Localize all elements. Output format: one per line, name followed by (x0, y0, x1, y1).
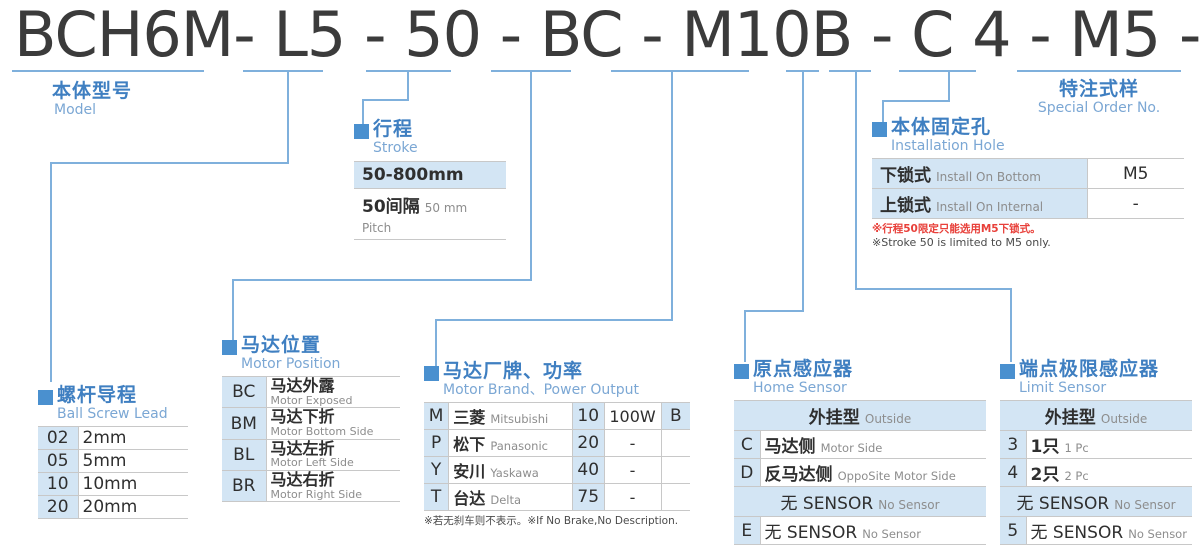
home-sensor-code: D (734, 459, 760, 487)
motor-power-value: - (630, 488, 636, 507)
limit-sensor-group1-cn: 外挂型 (1045, 408, 1096, 428)
lead-code: 05 (38, 450, 78, 473)
table-group-header: 无 SENSOR No Sensor (1000, 487, 1192, 517)
table-row[interactable]: 5 无 SENSOR No Sensor (1000, 517, 1192, 545)
motor-brand-note-en: ※If No Brake,No Description. (527, 515, 678, 527)
install-bottom-cn: 下锁式 (880, 166, 931, 186)
section-stroke: 行程 Stroke 50-800mm 50间隔 50 mm Pitch (354, 120, 506, 240)
motor-brand-bullet-icon (424, 366, 439, 381)
motor-position-bullet-icon (222, 340, 237, 355)
limit-sensor-title-en: Limit Sensor (1019, 381, 1159, 395)
motor-brand-cn: 台达 (453, 489, 485, 508)
installation-hole-title-cn: 本体固定孔 (891, 118, 1005, 137)
motor-brand-en: Mitsubishi (490, 412, 548, 426)
section-special-order: 特注式样 Special Order No. (1017, 80, 1181, 115)
table-group-header: 外挂型 Outside (1000, 401, 1192, 431)
limit-sensor-title-cn: 端点极限感应器 (1019, 360, 1159, 379)
limit-sensor-cn: 1只 (1031, 437, 1060, 457)
motor-brand-note-cn: ※若无刹车则不表示。 (424, 515, 527, 527)
motor-position-en: Motor Left Side (271, 457, 397, 469)
ball-screw-lead-title-en: Ball Screw Lead (57, 407, 168, 421)
lead-value: 10mm (83, 474, 138, 494)
home-sensor-bullet-icon (734, 364, 749, 379)
motor-brake-empty (661, 457, 690, 484)
limit-sensor-code: 3 (1000, 431, 1026, 459)
motor-brake-code: B (661, 403, 690, 430)
section-motor-position: 马达位置 Motor Position BC 马达外露 Motor Expose… (222, 336, 400, 502)
motor-brand-title-en: Motor Brand、Power Output (443, 383, 639, 397)
home-sensor-en: No Sensor (862, 527, 921, 541)
installation-hole-table: 下锁式 Install On Bottom M5 上锁式 Install On … (872, 158, 1184, 219)
lead-code: 20 (38, 496, 78, 519)
ball-screw-lead-bullet-icon (38, 390, 53, 405)
motor-power-value: - (630, 434, 636, 453)
limit-sensor-table: 外挂型 Outside 3 1只 1 Pc 4 2只 2 Pc 无 SENSOR… (1000, 400, 1192, 545)
limit-sensor-en: 1 Pc (1064, 441, 1088, 455)
motor-power-code: 10 (572, 403, 604, 430)
motor-position-code: BR (222, 471, 266, 502)
table-row[interactable]: T 台达 Delta 75 - (424, 484, 690, 511)
part-code-header: BCH6M- L5 - 50 - BC - M10B - C 4 - M5 - … (0, 2, 1200, 66)
install-internal-en: Install On Internal (936, 200, 1043, 214)
motor-position-cn: 马达下折 (271, 409, 397, 426)
section-model: 本体型号 Model (52, 82, 132, 117)
motor-position-code: BM (222, 408, 266, 439)
table-row[interactable]: M 三菱 Mitsubishi 10 100W B (424, 403, 690, 430)
motor-position-en: Motor Exposed (271, 395, 397, 407)
limit-sensor-en: No Sensor (1128, 527, 1187, 541)
table-group-header: 无 SENSOR No Sensor (734, 487, 986, 517)
motor-brand-en: Panasonic (490, 439, 548, 453)
section-ball-screw-lead: 螺杆导程 Ball Screw Lead 02 2mm 05 5mm 10 10… (38, 386, 188, 519)
motor-position-cn: 马达外露 (271, 378, 397, 395)
lead-code: 10 (38, 473, 78, 496)
install-bottom-value: M5 (1123, 164, 1148, 184)
motor-brand-en: Delta (490, 493, 521, 507)
motor-brand-cn: 安川 (453, 462, 485, 481)
installation-hole-note-en: ※Stroke 50 is limited to M5 only. (872, 236, 1184, 249)
home-sensor-title-cn: 原点感应器 (753, 360, 853, 379)
table-row[interactable]: 10 10mm (38, 473, 188, 496)
home-sensor-cn: 反马达侧 (765, 465, 833, 485)
motor-power-value: 100W (609, 407, 655, 426)
table-group-header: 外挂型 Outside (734, 401, 986, 431)
limit-sensor-group1-en: Outside (1101, 412, 1147, 426)
motor-brand-code: Y (424, 457, 449, 484)
stroke-range-value: 50-800mm (362, 165, 464, 185)
motor-brand-cn: 松下 (453, 435, 485, 454)
table-row[interactable]: BR 马达右折 Motor Right Side (222, 471, 400, 502)
table-row[interactable]: 4 2只 2 Pc (1000, 459, 1192, 487)
motor-position-code: BC (222, 377, 266, 408)
code-underline-install-hole (899, 70, 976, 72)
motor-brand-table: M 三菱 Mitsubishi 10 100W B P 松下 Panasonic… (424, 402, 690, 511)
table-row[interactable]: BC 马达外露 Motor Exposed (222, 377, 400, 408)
table-row[interactable]: BL 马达左折 Motor Left Side (222, 439, 400, 470)
motor-position-code: BL (222, 439, 266, 470)
table-row[interactable]: Y 安川 Yaskawa 40 - (424, 457, 690, 484)
motor-power-code: 40 (572, 457, 604, 484)
table-row[interactable]: 下锁式 Install On Bottom M5 (872, 159, 1184, 189)
home-sensor-cn: 无 SENSOR (765, 523, 858, 543)
motor-brand-code: T (424, 484, 449, 511)
installation-hole-title-en: Installation Hole (891, 139, 1005, 153)
home-sensor-group2-cn: 无 SENSOR (781, 494, 874, 514)
home-sensor-group2-en: No Sensor (878, 498, 939, 512)
install-bottom-en: Install On Bottom (936, 170, 1041, 184)
section-home-sensor: 原点感应器 Home Sensor 外挂型 Outside C 马达侧 Moto… (734, 360, 986, 545)
motor-power-value: - (630, 461, 636, 480)
lead-code: 02 (38, 427, 78, 450)
model-title-en: Model (54, 103, 132, 117)
table-row[interactable]: 3 1只 1 Pc (1000, 431, 1192, 459)
motor-position-en: Motor Bottom Side (271, 426, 397, 438)
motor-brand-code: M (424, 403, 449, 430)
section-limit-sensor: 端点极限感应器 Limit Sensor 外挂型 Outside 3 1只 1 … (1000, 360, 1192, 545)
table-row[interactable]: 50间隔 50 mm Pitch (354, 189, 506, 240)
motor-brand-note: ※若无刹车则不表示。※If No Brake,No Description. (424, 513, 690, 528)
motor-brake-empty (661, 484, 690, 511)
table-row[interactable]: 上锁式 Install On Internal - (872, 189, 1184, 219)
installation-hole-note-cn: ※行程50限定只能选用M5下锁式。 (872, 221, 1184, 236)
motor-position-cn: 马达左折 (271, 441, 397, 458)
section-motor-brand: 马达厂牌、功率 Motor Brand、Power Output M 三菱 Mi… (424, 362, 690, 528)
motor-power-code: 20 (572, 430, 604, 457)
table-row[interactable]: 05 5mm (38, 450, 188, 473)
stroke-pitch-cn: 50间隔 (362, 197, 420, 217)
home-sensor-en: Motor Side (821, 441, 883, 455)
stroke-title-en: Stroke (373, 141, 418, 155)
lead-value: 5mm (83, 451, 127, 471)
table-row[interactable]: BM 马达下折 Motor Bottom Side (222, 408, 400, 439)
limit-sensor-code: 5 (1000, 517, 1026, 545)
home-sensor-table: 外挂型 Outside C 马达侧 Motor Side D 反马达侧 Oppo… (734, 400, 986, 545)
limit-sensor-cn: 无 SENSOR (1031, 523, 1124, 543)
code-underline-motor-brand (611, 70, 749, 72)
limit-sensor-cn: 2只 (1031, 465, 1060, 485)
installation-hole-bullet-icon (872, 122, 887, 137)
motor-brake-empty (661, 430, 690, 457)
lead-value: 20mm (83, 497, 138, 517)
ball-screw-lead-title-cn: 螺杆导程 (57, 386, 168, 405)
limit-sensor-en: 2 Pc (1064, 469, 1088, 483)
table-row[interactable]: 02 2mm (38, 427, 188, 450)
table-row[interactable]: P 松下 Panasonic 20 - (424, 430, 690, 457)
limit-sensor-bullet-icon (1000, 364, 1015, 379)
motor-brand-code: P (424, 430, 449, 457)
motor-position-title-cn: 马达位置 (241, 336, 340, 355)
home-sensor-code: C (734, 431, 760, 459)
motor-brand-en: Yaskawa (490, 466, 538, 480)
home-sensor-group1-en: Outside (865, 412, 911, 426)
motor-position-title-en: Motor Position (241, 357, 340, 371)
motor-position-table: BC 马达外露 Motor Exposed BM 马达下折 Motor Bott… (222, 376, 400, 502)
home-sensor-cn: 马达侧 (765, 437, 816, 457)
table-row[interactable]: D 反马达侧 OppoSite Motor Side (734, 459, 986, 487)
home-sensor-group1-cn: 外挂型 (809, 408, 860, 428)
special-order-title-en: Special Order No. (1017, 101, 1181, 115)
stroke-title-cn: 行程 (373, 120, 418, 139)
limit-sensor-group2-en: No Sensor (1114, 498, 1175, 512)
model-title-cn: 本体型号 (52, 82, 132, 101)
home-sensor-en: OppoSite Motor Side (838, 469, 956, 483)
install-internal-value: - (1133, 194, 1139, 214)
part-code-text: BCH6M- L5 - 50 - BC - M10B - C 4 - M5 - … (14, 0, 1200, 71)
home-sensor-title-en: Home Sensor (753, 381, 853, 395)
table-row[interactable]: C 马达侧 Motor Side (734, 431, 986, 459)
motor-brand-cn: 三菱 (453, 408, 485, 427)
limit-sensor-code: 4 (1000, 459, 1026, 487)
table-row[interactable]: 50-800mm (354, 162, 506, 189)
table-row[interactable]: 20 20mm (38, 496, 188, 519)
special-order-title-cn: 特注式样 (1017, 80, 1181, 99)
motor-position-cn: 马达右折 (271, 472, 397, 489)
motor-power-code: 75 (572, 484, 604, 511)
motor-brand-title-cn: 马达厂牌、功率 (443, 362, 639, 381)
stroke-bullet-icon (354, 124, 369, 139)
section-installation-hole: 本体固定孔 Installation Hole 下锁式 Install On B… (872, 118, 1184, 249)
motor-position-en: Motor Right Side (271, 489, 397, 501)
install-internal-cn: 上锁式 (880, 196, 931, 216)
stroke-table: 50-800mm 50间隔 50 mm Pitch (354, 161, 506, 240)
ball-screw-lead-table: 02 2mm 05 5mm 10 10mm 20 20mm (38, 426, 188, 519)
limit-sensor-group2-cn: 无 SENSOR (1017, 494, 1110, 514)
code-underline-special-order (1017, 70, 1181, 72)
code-underline-limit-sensor (829, 70, 871, 72)
lead-value: 2mm (83, 428, 127, 448)
code-underline-model (12, 70, 204, 72)
table-row[interactable]: E 无 SENSOR No Sensor (734, 517, 986, 545)
home-sensor-code: E (734, 517, 760, 545)
code-underline-lead (243, 70, 323, 72)
